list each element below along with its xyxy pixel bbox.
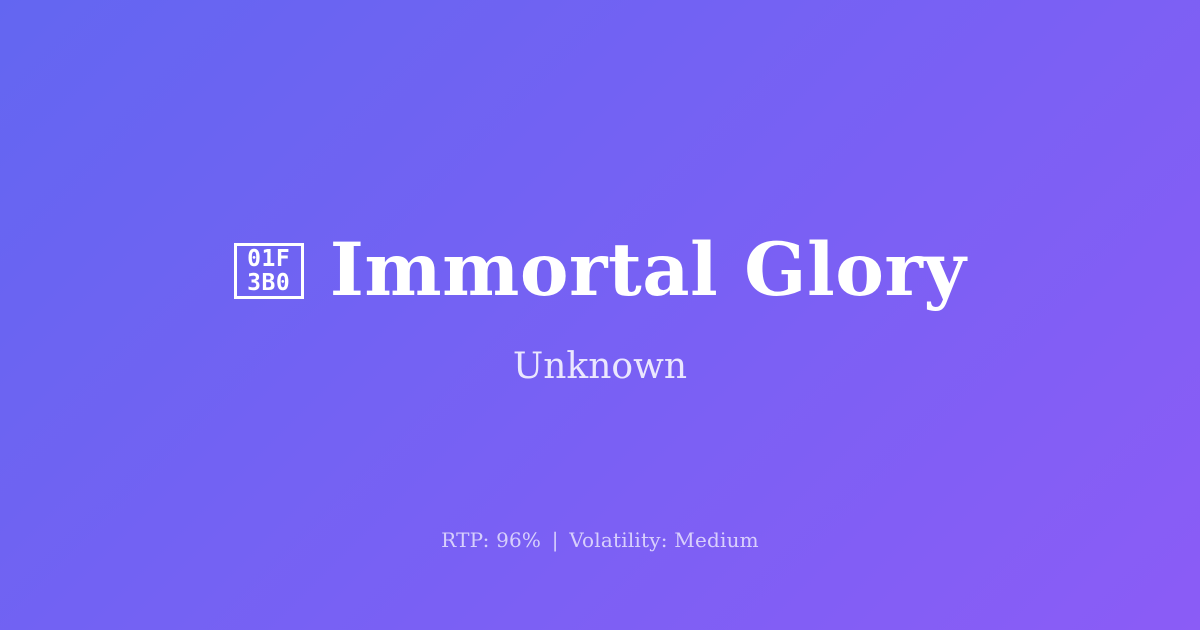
rtp-label: RTP:: [441, 528, 489, 552]
rtp-value: 96%: [496, 528, 541, 552]
game-hero-card: 01F 3B0 Immortal Glory Unknown RTP: 96% …: [0, 0, 1200, 630]
game-meta-line: RTP: 96% | Volatility: Medium: [0, 528, 1200, 552]
provider-name: Unknown: [513, 345, 687, 388]
meta-separator: |: [548, 528, 563, 552]
volatility-label: Volatility:: [569, 528, 667, 552]
tofu-codepoint-top: 01F: [247, 247, 290, 271]
page-title: Immortal Glory: [330, 233, 967, 309]
volatility-value: Medium: [674, 528, 759, 552]
tofu-codepoint-bottom: 3B0: [247, 271, 290, 295]
title-row: 01F 3B0 Immortal Glory: [234, 233, 967, 309]
slot-machine-icon: 01F 3B0: [234, 243, 304, 299]
